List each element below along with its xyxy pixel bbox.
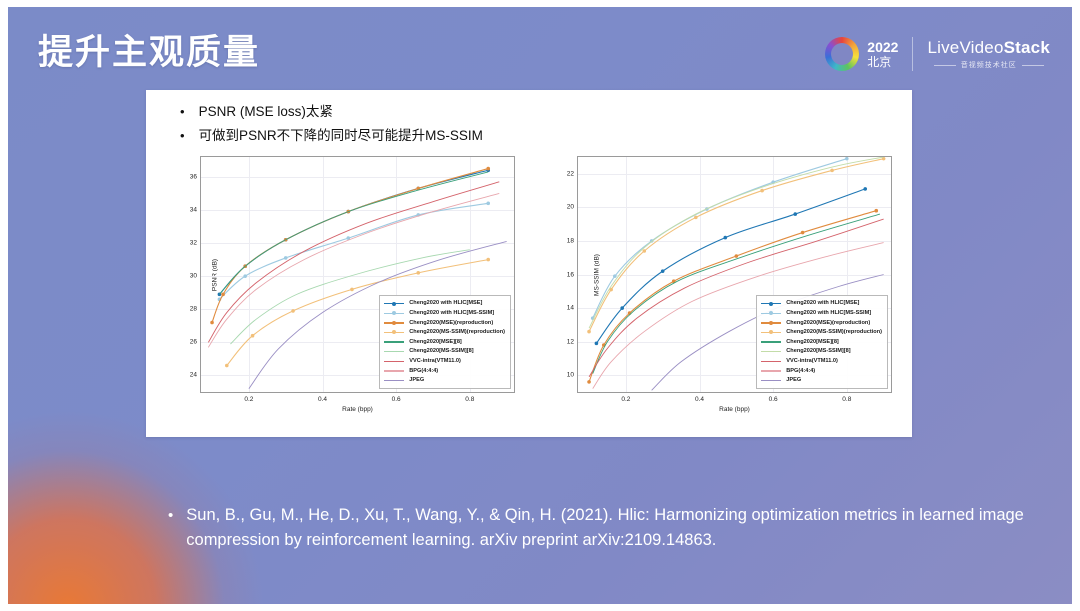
data-point-marker bbox=[661, 269, 665, 273]
brand-suffix: Stack bbox=[1004, 38, 1050, 57]
legend-item[interactable]: Cheng2020 with HLIC[MS-SSIM] bbox=[384, 308, 505, 318]
legend-label: Cheng2020 with HLIC[MSE] bbox=[409, 300, 482, 306]
legend-color-swatch bbox=[384, 300, 404, 307]
x-tick-label: 0.2 bbox=[621, 396, 630, 403]
data-point-marker bbox=[620, 306, 624, 310]
legend-item[interactable]: BPG(4:4:4) bbox=[384, 366, 505, 376]
data-point-marker bbox=[801, 231, 805, 235]
legend-color-swatch bbox=[761, 319, 781, 326]
legend-label: JPEG bbox=[409, 377, 424, 383]
legend-item[interactable]: Cheng2020[MSE][8] bbox=[761, 337, 882, 347]
legend-item[interactable]: JPEG bbox=[384, 375, 505, 385]
legend-label: Cheng2020 with HLIC[MS-SSIM] bbox=[409, 310, 494, 316]
legend-color-swatch bbox=[761, 377, 781, 384]
legend-color-swatch bbox=[384, 338, 404, 345]
charts-row: PSNR (dB) Rate (bpp) 0.20.40.60.82426283… bbox=[160, 152, 898, 427]
psnr-plot-area: PSNR (dB) Rate (bpp) 0.20.40.60.82426283… bbox=[200, 156, 515, 393]
bullet-text: 可做到PSNR不下降的同时尽可能提升MS-SSIM bbox=[199, 126, 483, 145]
legend-item[interactable]: BPG(4:4:4) bbox=[761, 366, 882, 376]
slide-canvas: 提升主观质量 2022 北京 LiveVideoStack 音视频技术社区 • … bbox=[8, 7, 1072, 604]
legend-color-swatch bbox=[761, 358, 781, 365]
legend-item[interactable]: VVC-intra(VTM11.0) bbox=[761, 356, 882, 366]
conference-badge: 2022 北京 bbox=[825, 37, 898, 71]
y-tick-label: 10 bbox=[567, 372, 574, 379]
legend-color-swatch bbox=[384, 319, 404, 326]
legend-item[interactable]: Cheng2020(MS-SSIM)(reproduction) bbox=[384, 327, 505, 337]
data-point-marker bbox=[350, 288, 354, 292]
list-item: • PSNR (MSE loss)太紧 bbox=[180, 102, 483, 121]
livevideostack-logo: LiveVideoStack 音视频技术社区 bbox=[927, 38, 1050, 70]
legend-item[interactable]: VVC-intra(VTM11.0) bbox=[384, 356, 505, 366]
bullet-marker-icon: • bbox=[180, 126, 185, 145]
data-point-marker bbox=[486, 202, 490, 206]
branding-block: 2022 北京 LiveVideoStack 音视频技术社区 bbox=[825, 37, 1050, 71]
legend-label: Cheng2020[MSE][8] bbox=[786, 339, 839, 345]
conference-year: 2022 bbox=[867, 40, 898, 55]
legend-label: Cheng2020(MS-SSIM)(reproduction) bbox=[409, 329, 505, 335]
data-point-marker bbox=[735, 254, 739, 258]
data-point-marker bbox=[225, 364, 229, 368]
brand-tagline: 音视频技术社区 bbox=[961, 60, 1017, 70]
y-tick-label: 14 bbox=[567, 305, 574, 312]
legend-item[interactable]: Cheng2020[MS-SSIM][8] bbox=[384, 347, 505, 357]
data-point-marker bbox=[642, 249, 646, 253]
legend-color-swatch bbox=[384, 329, 404, 336]
legend-color-swatch bbox=[384, 348, 404, 355]
list-item: • 可做到PSNR不下降的同时尽可能提升MS-SSIM bbox=[180, 126, 483, 145]
page-title: 提升主观质量 bbox=[38, 33, 260, 73]
legend-label: Cheng2020[MS-SSIM][8] bbox=[409, 348, 473, 354]
y-tick-label: 34 bbox=[190, 206, 197, 213]
x-tick-label: 0.4 bbox=[318, 396, 327, 403]
y-tick-label: 24 bbox=[190, 372, 197, 379]
data-point-marker bbox=[284, 256, 288, 260]
legend-item[interactable]: Cheng2020 with HLIC[MSE] bbox=[761, 299, 882, 309]
legend-color-swatch bbox=[761, 310, 781, 317]
data-point-marker bbox=[863, 187, 867, 191]
x-tick-label: 0.4 bbox=[695, 396, 704, 403]
data-point-marker bbox=[416, 271, 420, 275]
legend-label: Cheng2020[MS-SSIM][8] bbox=[786, 348, 850, 354]
legend-label: Cheng2020(MS-SSIM)(reproduction) bbox=[786, 329, 882, 335]
y-tick-label: 26 bbox=[190, 339, 197, 346]
brand-divider bbox=[912, 37, 913, 71]
legend-color-swatch bbox=[384, 310, 404, 317]
legend-item[interactable]: Cheng2020[MSE][8] bbox=[384, 337, 505, 347]
legend-label: Cheng2020(MSE)(reproduction) bbox=[786, 320, 870, 326]
data-point-marker bbox=[486, 167, 490, 171]
chart-legend: Cheng2020 with HLIC[MSE]Cheng2020 with H… bbox=[756, 295, 888, 389]
legend-item[interactable]: Cheng2020 with HLIC[MSE] bbox=[384, 299, 505, 309]
legend-color-swatch bbox=[761, 300, 781, 307]
data-series-line bbox=[219, 203, 488, 299]
legend-color-swatch bbox=[761, 348, 781, 355]
data-point-marker bbox=[760, 189, 764, 193]
legend-item[interactable]: Cheng2020(MSE)(reproduction) bbox=[384, 318, 505, 328]
legend-label: Cheng2020(MSE)(reproduction) bbox=[409, 320, 493, 326]
x-tick-label: 0.2 bbox=[244, 396, 253, 403]
data-point-marker bbox=[251, 334, 255, 338]
y-tick-label: 32 bbox=[190, 240, 197, 247]
legend-label: BPG(4:4:4) bbox=[786, 368, 815, 374]
y-tick-label: 28 bbox=[190, 306, 197, 313]
x-tick-label: 0.8 bbox=[842, 396, 851, 403]
data-point-marker bbox=[221, 293, 225, 297]
y-tick-label: 16 bbox=[567, 271, 574, 278]
data-series-line bbox=[219, 170, 488, 294]
legend-item[interactable]: Cheng2020(MSE)(reproduction) bbox=[761, 318, 882, 328]
legend-item[interactable]: Cheng2020 with HLIC[MS-SSIM] bbox=[761, 308, 882, 318]
data-point-marker bbox=[595, 342, 599, 346]
y-tick-label: 36 bbox=[190, 173, 197, 180]
y-tick-label: 12 bbox=[567, 338, 574, 345]
data-point-marker bbox=[874, 209, 878, 213]
y-tick-label: 30 bbox=[190, 273, 197, 280]
legend-label: Cheng2020[MSE][8] bbox=[409, 339, 462, 345]
data-series-line bbox=[219, 172, 488, 294]
data-point-marker bbox=[587, 380, 591, 384]
legend-color-swatch bbox=[384, 367, 404, 374]
msssim-chart: MS-SSIM (dB) Rate (bpp) 0.20.40.60.81012… bbox=[537, 152, 898, 427]
data-point-marker bbox=[830, 169, 834, 173]
msssim-plot-area: MS-SSIM (dB) Rate (bpp) 0.20.40.60.81012… bbox=[577, 156, 892, 393]
data-point-marker bbox=[613, 274, 617, 278]
data-point-marker bbox=[587, 330, 591, 334]
legend-color-swatch bbox=[761, 329, 781, 336]
data-point-marker bbox=[210, 321, 214, 325]
data-point-marker bbox=[243, 274, 247, 278]
legend-color-swatch bbox=[384, 377, 404, 384]
psnr-x-axis-label: Rate (bpp) bbox=[342, 406, 373, 413]
data-point-marker bbox=[845, 157, 849, 160]
citation-text: Sun, B., Gu, M., He, D., Xu, T., Wang, Y… bbox=[186, 503, 1038, 553]
legend-item[interactable]: JPEG bbox=[761, 375, 882, 385]
citation-bullet-icon: • bbox=[168, 503, 173, 528]
brand-prefix: Live bbox=[927, 38, 959, 57]
legend-item[interactable]: Cheng2020[MS-SSIM][8] bbox=[761, 347, 882, 357]
data-point-marker bbox=[723, 236, 727, 240]
data-point-marker bbox=[291, 309, 295, 313]
x-tick-label: 0.8 bbox=[465, 396, 474, 403]
legend-label: JPEG bbox=[786, 377, 801, 383]
chart-legend: Cheng2020 with HLIC[MSE]Cheng2020 with H… bbox=[379, 295, 511, 389]
bullet-list: • PSNR (MSE loss)太紧 • 可做到PSNR不下降的同时尽可能提升… bbox=[180, 102, 483, 150]
legend-color-swatch bbox=[384, 358, 404, 365]
content-panel: • PSNR (MSE loss)太紧 • 可做到PSNR不下降的同时尽可能提升… bbox=[146, 90, 912, 437]
conference-ring-logo-icon bbox=[825, 37, 859, 71]
citation-block: • Sun, B., Gu, M., He, D., Xu, T., Wang,… bbox=[168, 503, 1038, 553]
legend-label: Cheng2020 with HLIC[MS-SSIM] bbox=[786, 310, 871, 316]
x-tick-label: 0.6 bbox=[392, 396, 401, 403]
legend-color-swatch bbox=[761, 338, 781, 345]
legend-label: BPG(4:4:4) bbox=[409, 368, 438, 374]
legend-label: VVC-intra(VTM11.0) bbox=[786, 358, 838, 364]
data-point-marker bbox=[694, 216, 698, 220]
msssim-x-axis-label: Rate (bpp) bbox=[719, 406, 750, 413]
conference-city: 北京 bbox=[867, 55, 898, 69]
brand-mid: Video bbox=[959, 38, 1003, 57]
y-tick-label: 18 bbox=[567, 237, 574, 244]
citation-line-1: Sun, B., Gu, M., He, D., Xu, T., Wang, Y… bbox=[186, 506, 914, 524]
legend-label: Cheng2020 with HLIC[MSE] bbox=[786, 300, 859, 306]
data-point-marker bbox=[486, 258, 490, 262]
legend-item[interactable]: Cheng2020(MS-SSIM)(reproduction) bbox=[761, 327, 882, 337]
bullet-text: PSNR (MSE loss)太紧 bbox=[199, 102, 333, 121]
data-point-marker bbox=[793, 212, 797, 216]
y-tick-label: 22 bbox=[567, 170, 574, 177]
psnr-chart: PSNR (dB) Rate (bpp) 0.20.40.60.82426283… bbox=[160, 152, 521, 427]
bullet-marker-icon: • bbox=[180, 102, 185, 121]
legend-label: VVC-intra(VTM11.0) bbox=[409, 358, 461, 364]
legend-color-swatch bbox=[761, 367, 781, 374]
y-tick-label: 20 bbox=[567, 204, 574, 211]
x-tick-label: 0.6 bbox=[769, 396, 778, 403]
